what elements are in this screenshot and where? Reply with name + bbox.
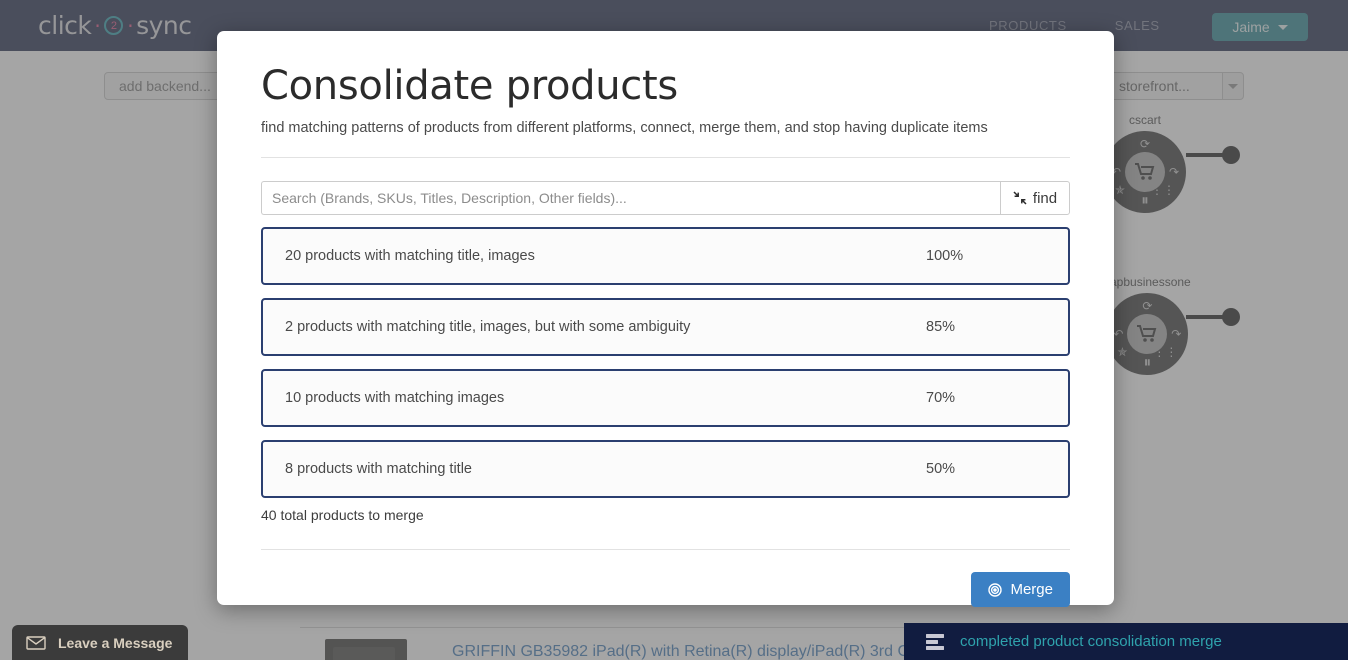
- find-button-label: find: [1033, 190, 1057, 207]
- match-result-label: 10 products with matching images: [285, 390, 926, 406]
- app-root: click · 2 · sync PRODUCTS SALES Jaime ad…: [0, 0, 1348, 660]
- match-result-label: 8 products with matching title: [285, 461, 926, 477]
- consolidate-products-modal: Consolidate products find matching patte…: [217, 31, 1114, 605]
- find-button[interactable]: find: [1000, 181, 1070, 215]
- server-list-icon: [926, 634, 944, 650]
- compress-arrows-icon: [1013, 191, 1027, 205]
- merge-button[interactable]: Merge: [971, 572, 1070, 607]
- modal-footer: Merge: [261, 572, 1070, 607]
- bullseye-icon: [988, 583, 1002, 597]
- search-input[interactable]: [261, 181, 1000, 215]
- match-result-percent: 50%: [926, 461, 1046, 477]
- modal-title: Consolidate products: [261, 31, 1070, 109]
- leave-a-message-label: Leave a Message: [58, 635, 172, 651]
- leave-a-message-widget[interactable]: Leave a Message: [12, 625, 188, 660]
- notification-bar[interactable]: completed product consolidation merge: [904, 623, 1348, 660]
- search-row: find: [261, 181, 1070, 215]
- match-results-list: 20 products with matching title, images …: [261, 227, 1070, 498]
- match-result-percent: 70%: [926, 390, 1046, 406]
- match-result-label: 2 products with matching title, images, …: [285, 319, 926, 335]
- modal-footer-divider: [261, 549, 1070, 550]
- match-result-percent: 100%: [926, 248, 1046, 264]
- total-products-label: 40 total products to merge: [261, 507, 1070, 523]
- notification-text: completed product consolidation merge: [960, 633, 1222, 650]
- modal-header-divider: [261, 157, 1070, 158]
- match-result-row[interactable]: 10 products with matching images 70%: [261, 369, 1070, 427]
- envelope-icon: [26, 636, 46, 650]
- match-result-row[interactable]: 20 products with matching title, images …: [261, 227, 1070, 285]
- merge-button-label: Merge: [1010, 581, 1053, 598]
- modal-subtitle: find matching patterns of products from …: [261, 120, 1070, 136]
- match-result-percent: 85%: [926, 319, 1046, 335]
- match-result-label: 20 products with matching title, images: [285, 248, 926, 264]
- match-result-row[interactable]: 8 products with matching title 50%: [261, 440, 1070, 498]
- match-result-row[interactable]: 2 products with matching title, images, …: [261, 298, 1070, 356]
